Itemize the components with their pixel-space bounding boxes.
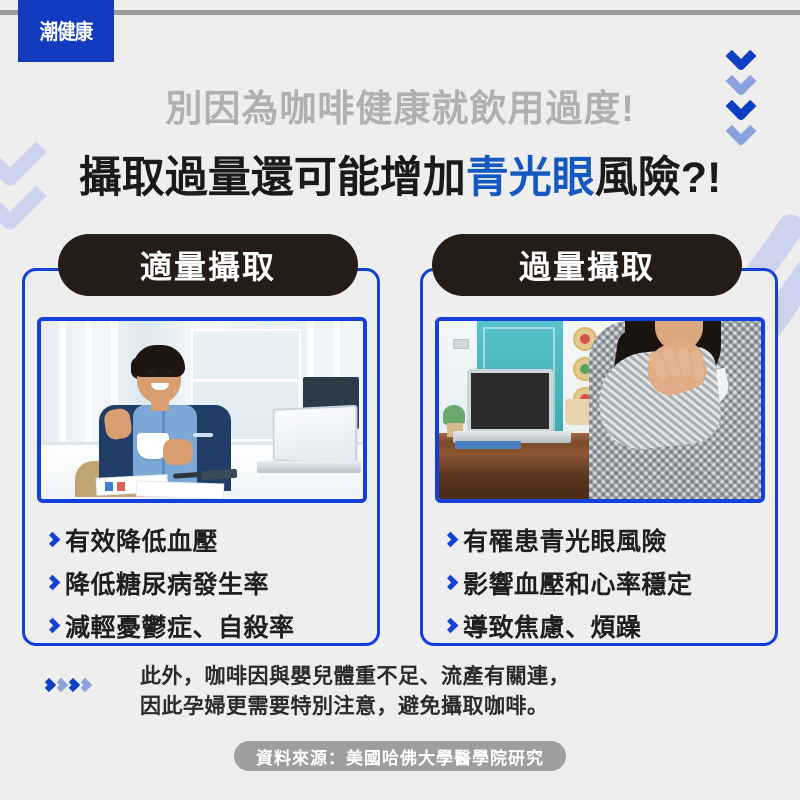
bullet-list-moderate: 有效降低血壓 降低糖尿病發生率 減輕憂鬱症、自殺率 <box>39 519 369 648</box>
headline-part-1: 攝取過量還可能增加 <box>79 154 466 202</box>
chevron-right-icon <box>437 620 463 631</box>
bullet-label: 有效降低血壓 <box>65 522 218 558</box>
bullet-label: 降低糖尿病發生率 <box>65 565 269 601</box>
footer-note-line-2: 因此孕婦更需要特別注意，避免攝取咖啡。 <box>140 692 680 722</box>
bullet-list-excessive: 有罹患青光眼風險 影響血壓和心率穩定 導致焦慮、煩躁 <box>437 519 767 648</box>
top-divider-rule <box>0 10 800 15</box>
brand-logo-text: 潮健康 <box>40 16 93 46</box>
chevron-right-icon <box>437 577 463 588</box>
list-item: 降低糖尿病發生率 <box>39 562 369 603</box>
photo-moderate-intake <box>37 317 367 503</box>
chevron-right-icon <box>39 620 65 631</box>
bullet-label: 減輕憂鬱症、自殺率 <box>65 608 295 644</box>
card-moderate-intake: 有效降低血壓 降低糖尿病發生率 減輕憂鬱症、自殺率 <box>22 268 380 646</box>
headline-highlight: 青光眼 <box>466 154 595 202</box>
chevron-right-icon-pale-2 <box>78 678 92 692</box>
footer-note: 此外，咖啡因與嬰兒體重不足、流產有關連， 因此孕婦更需要特別注意，避免攝取咖啡。 <box>140 662 680 722</box>
page-title: 攝取過量還可能增加青光眼風險?! <box>0 143 800 205</box>
bullet-label: 有罹患青光眼風險 <box>463 522 667 558</box>
footer-note-line-1: 此外，咖啡因與嬰兒體重不足、流產有關連， <box>140 662 680 692</box>
card-excessive-intake: 有罹患青光眼風險 影響血壓和心率穩定 導致焦慮、煩躁 <box>420 268 778 646</box>
card-title-moderate-intake: 適量攝取 <box>58 234 358 296</box>
list-item: 有罹患青光眼風險 <box>437 519 767 560</box>
list-item: 減輕憂鬱症、自殺率 <box>39 605 369 646</box>
kicker-text: 別因為咖啡健康就飲用過度! <box>0 78 800 132</box>
photo-excessive-intake <box>435 317 765 503</box>
card-title-excessive-intake: 過量攝取 <box>432 234 742 296</box>
list-item: 影響血壓和心率穩定 <box>437 562 767 603</box>
list-item: 有效降低血壓 <box>39 519 369 560</box>
infographic-poster: 潮健康 別因為咖啡健康就飲用過度! 攝取過量還可能增加青光眼風險?! <box>0 0 800 800</box>
headline-part-2: 風險?! <box>595 154 722 202</box>
note-chevron-icons <box>44 680 90 690</box>
chevron-right-icon <box>39 577 65 588</box>
chevron-right-icon <box>437 534 463 545</box>
brand-logo: 潮健康 <box>18 0 114 62</box>
bullet-label: 影響血壓和心率穩定 <box>463 565 693 601</box>
source-badge: 資料來源：美國哈佛大學醫學院研究 <box>234 741 566 771</box>
chevron-right-icon <box>39 534 65 545</box>
list-item: 導致焦慮、煩躁 <box>437 605 767 646</box>
bullet-label: 導致焦慮、煩躁 <box>463 608 642 644</box>
